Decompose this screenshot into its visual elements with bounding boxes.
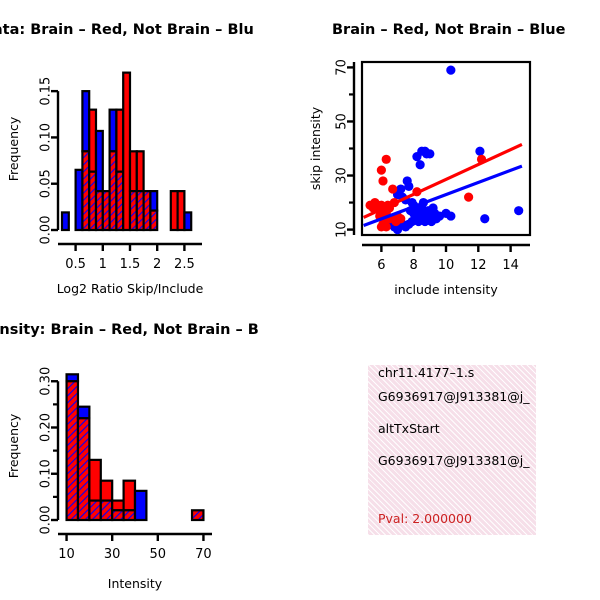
svg-text:0.10: 0.10: [39, 123, 54, 152]
svg-text:30: 30: [104, 547, 121, 562]
intensity-histogram-panel: ne Itensity: Brain – Red, Not Brain – B …: [0, 300, 300, 600]
svg-text:30: 30: [335, 167, 350, 184]
ratio-histogram-panel: RatioData: Brain – Red, Not Brain – Blu …: [0, 0, 300, 300]
svg-text:Intensity: Intensity: [108, 576, 163, 591]
svg-text:10: 10: [335, 221, 350, 238]
svg-text:0.5: 0.5: [65, 257, 86, 272]
scatter-plot-title: Brain – Red, Not Brain – Blue: [332, 22, 565, 38]
annotation-line-event-type: altTxStart: [378, 421, 440, 436]
annotation-line-locus: chr11.4177–1.s: [378, 365, 474, 380]
svg-text:1: 1: [99, 257, 107, 272]
svg-text:0.30: 0.30: [39, 367, 54, 396]
svg-text:10: 10: [438, 258, 455, 273]
annotation-pval: Pval: 2.000000: [378, 511, 472, 526]
intensity-histogram-title: ne Itensity: Brain – Red, Not Brain – B: [0, 322, 259, 338]
svg-text:2.5: 2.5: [174, 257, 195, 272]
annotation-line-event-id: G6936917@J913381@j_: [378, 389, 529, 404]
svg-text:0.20: 0.20: [39, 413, 54, 442]
svg-text:2: 2: [153, 257, 161, 272]
svg-text:skip intensity: skip intensity: [308, 106, 323, 190]
scatter-plot-panel: Brain – Red, Not Brain – Blue 1030507068…: [300, 0, 600, 300]
annotation-panel: G6936917@J913381@j_ altTxStart G6936917@…: [300, 300, 600, 600]
svg-text:12: 12: [470, 258, 487, 273]
scatter-plot: 1030507068101214include intensityskip in…: [300, 0, 600, 300]
svg-text:70: 70: [335, 59, 350, 76]
svg-text:70: 70: [195, 547, 212, 562]
svg-text:0.15: 0.15: [39, 77, 54, 106]
svg-text:Log2 Ratio Skip/Include: Log2 Ratio Skip/Include: [57, 281, 204, 296]
annotation-box: G6936917@J913381@j_ altTxStart G6936917@…: [368, 365, 536, 535]
svg-text:Frequency: Frequency: [6, 116, 21, 181]
ratio-histogram-plot: 0.000.050.100.150.511.522.5Log2 Ratio Sk…: [0, 0, 300, 300]
svg-text:0.00: 0.00: [39, 506, 54, 535]
svg-text:Frequency: Frequency: [6, 413, 21, 478]
svg-text:14: 14: [502, 258, 519, 273]
svg-text:6: 6: [377, 258, 385, 273]
svg-text:50: 50: [335, 113, 350, 130]
svg-text:0.10: 0.10: [39, 459, 54, 488]
annotation-line-gene-id: G6936917@J913381@j_: [378, 453, 529, 468]
svg-text:0.05: 0.05: [39, 169, 54, 198]
svg-text:include intensity: include intensity: [394, 282, 498, 297]
ratio-histogram-title: RatioData: Brain – Red, Not Brain – Blu: [0, 22, 254, 38]
svg-text:1.5: 1.5: [120, 257, 141, 272]
svg-text:0.00: 0.00: [39, 216, 54, 245]
svg-text:10: 10: [58, 547, 75, 562]
intensity-histogram-plot: 0.000.100.200.3010305070IntensityFrequen…: [0, 300, 300, 600]
svg-text:50: 50: [150, 547, 167, 562]
svg-text:8: 8: [410, 258, 418, 273]
